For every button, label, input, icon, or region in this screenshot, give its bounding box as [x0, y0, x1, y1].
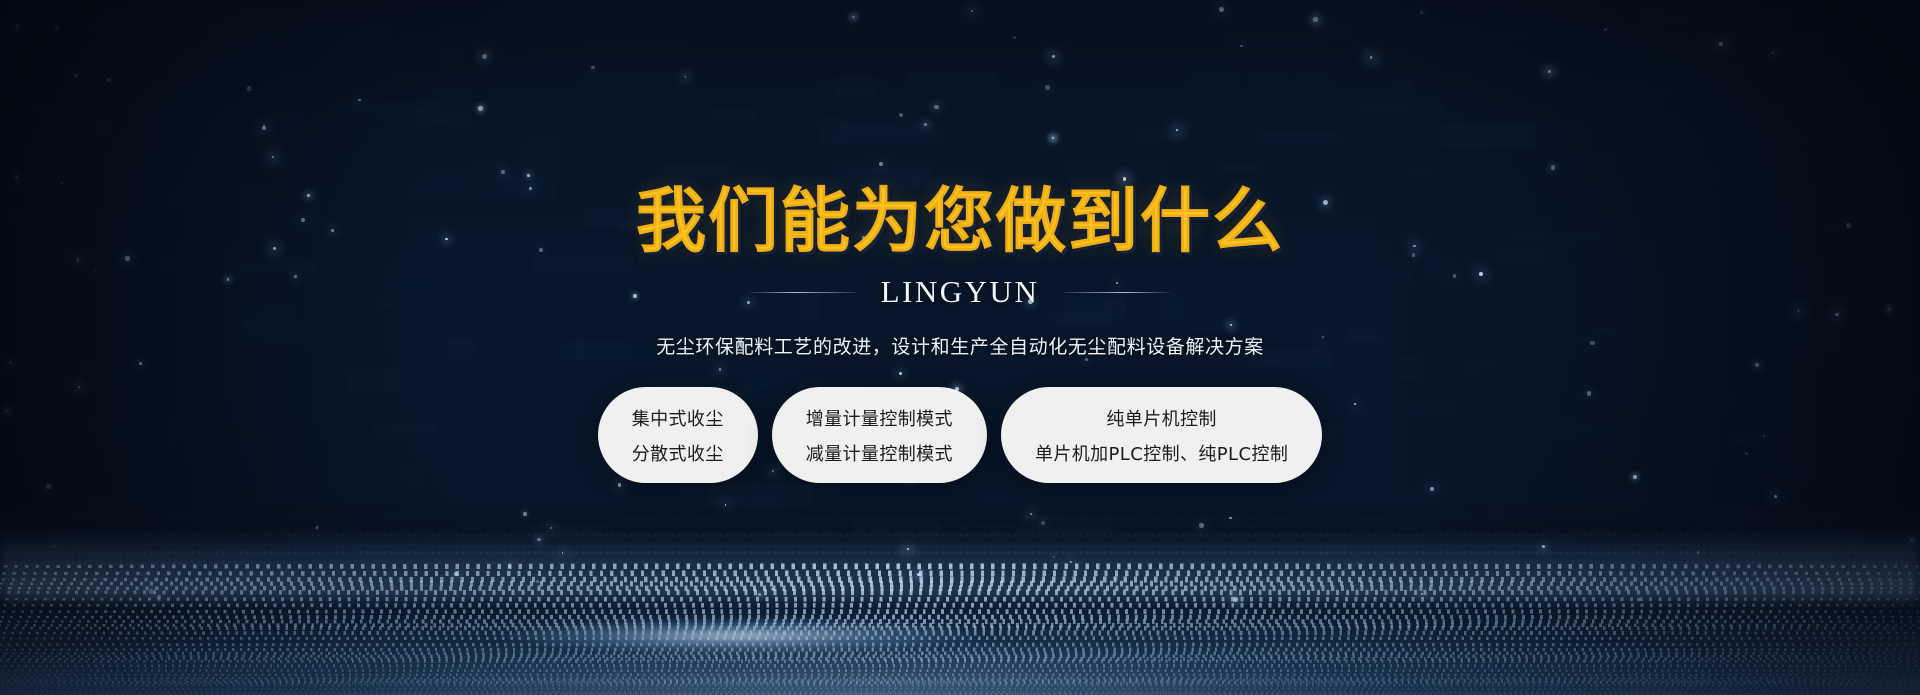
feature-card-control-system[interactable]: 纯单片机控制 单片机加PLC控制、纯PLC控制	[1001, 387, 1322, 483]
card-line-2: 减量计量控制模式	[806, 440, 953, 466]
page-title: 我们能为您做到什么	[636, 186, 1284, 256]
divider-line-right	[1065, 292, 1173, 293]
banner-content: 我们能为您做到什么 LINGYUN 无尘环保配料工艺的改进，设计和生产全自动化无…	[0, 0, 1920, 695]
tagline-text: 无尘环保配料工艺的改进，设计和生产全自动化无尘配料设备解决方案	[656, 332, 1264, 359]
brand-row: LINGYUN	[747, 274, 1174, 310]
card-line-2: 单片机加PLC控制、纯PLC控制	[1035, 440, 1288, 466]
card-line-1: 增量计量控制模式	[806, 405, 953, 431]
feature-card-dust-collection[interactable]: 集中式收尘 分散式收尘	[598, 387, 758, 483]
card-line-2: 分散式收尘	[632, 440, 724, 466]
feature-card-list: 集中式收尘 分散式收尘 增量计量控制模式 减量计量控制模式 纯单片机控制 单片机…	[598, 387, 1323, 483]
feature-card-metering-mode[interactable]: 增量计量控制模式 减量计量控制模式	[772, 387, 987, 483]
card-line-1: 集中式收尘	[632, 405, 724, 431]
card-line-1: 纯单片机控制	[1106, 405, 1216, 431]
hero-banner: 我们能为您做到什么 LINGYUN 无尘环保配料工艺的改进，设计和生产全自动化无…	[0, 0, 1920, 695]
brand-name: LINGYUN	[881, 274, 1040, 310]
divider-line-left	[747, 292, 855, 293]
